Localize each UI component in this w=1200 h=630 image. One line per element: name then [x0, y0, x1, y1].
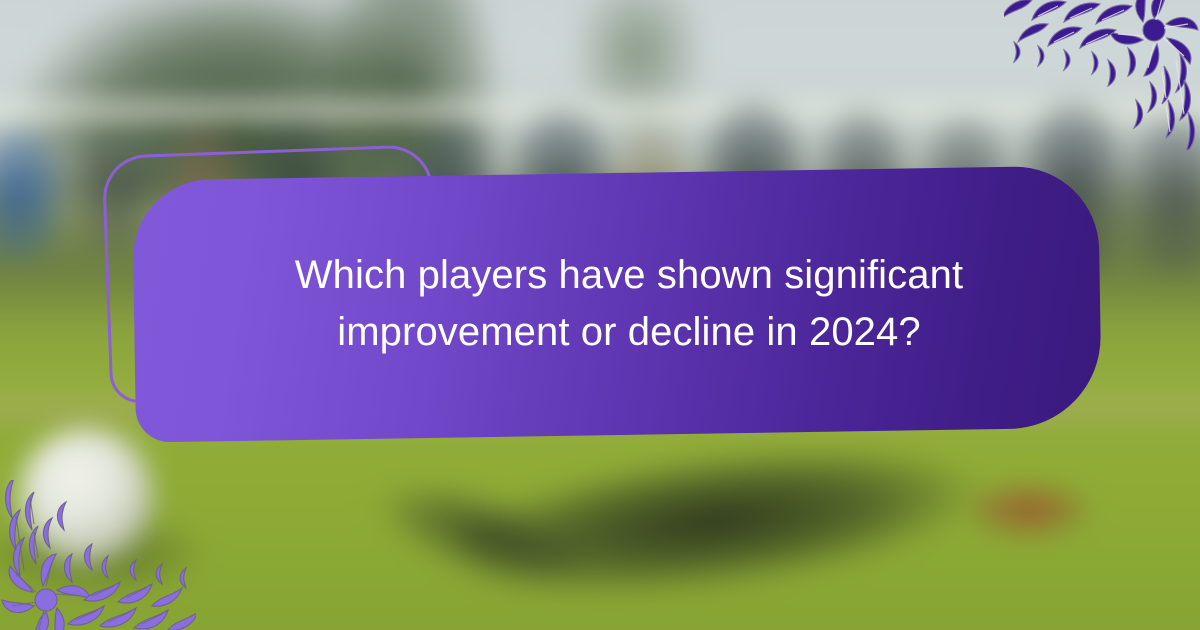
question-card: Which players have shown significant imp… — [132, 165, 1102, 442]
soccer-ball — [19, 429, 153, 564]
player-boot — [971, 485, 1086, 535]
question-text: Which players have shown significant imp… — [289, 247, 969, 361]
social-card-canvas: Which players have shown significant imp… — [0, 0, 1200, 630]
goal-crossbar — [0, 98, 1200, 121]
